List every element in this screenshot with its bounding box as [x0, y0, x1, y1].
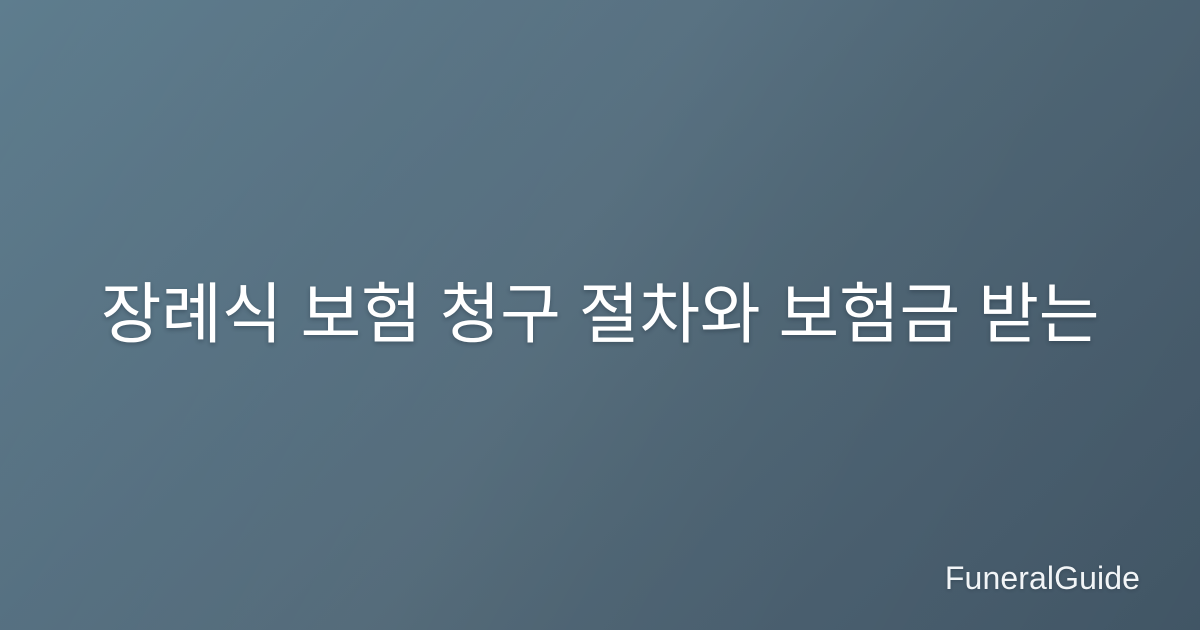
page-title: 장례식 보험 청구 절차와 보험금 받는: [70, 272, 1130, 358]
og-share-card: 장례식 보험 청구 절차와 보험금 받는 FuneralGuide: [0, 0, 1200, 630]
brand-wordmark: FuneralGuide: [945, 562, 1140, 594]
headline-container: 장례식 보험 청구 절차와 보험금 받는: [0, 0, 1200, 630]
